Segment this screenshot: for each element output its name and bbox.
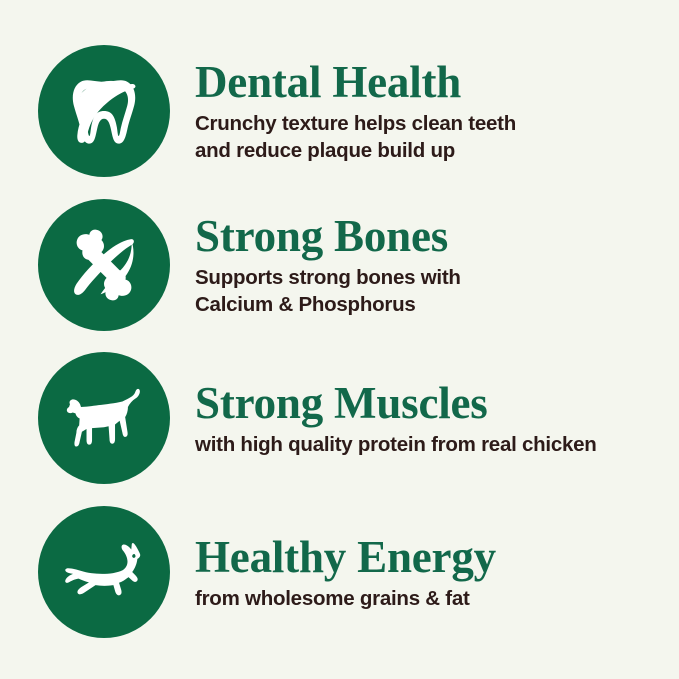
bone-leaf-icon — [61, 222, 147, 308]
tooth-leaf-icon — [61, 68, 147, 154]
benefit-icon-badge — [38, 199, 170, 331]
benefit-icon-badge — [38, 352, 170, 484]
benefits-panel: Dental Health Crunchy texture helps clea… — [0, 0, 679, 679]
benefit-text-block: Strong Bones Supports strong bones with … — [195, 212, 461, 318]
standing-dog-icon — [58, 372, 150, 464]
benefit-item-strong-muscles: Strong Muscles with high quality protein… — [38, 342, 661, 496]
benefit-item-healthy-energy: Healthy Energy from wholesome grains & f… — [38, 495, 661, 649]
benefit-description: with high quality protein from real chic… — [195, 431, 597, 458]
benefit-icon-badge — [38, 506, 170, 638]
leaping-dog-icon — [57, 525, 151, 619]
benefit-title: Healthy Energy — [195, 535, 496, 581]
benefit-text-block: Strong Muscles with high quality protein… — [195, 379, 597, 458]
benefit-text-block: Healthy Energy from wholesome grains & f… — [195, 533, 496, 612]
benefit-title: Strong Bones — [195, 214, 461, 260]
benefit-item-dental-health: Dental Health Crunchy texture helps clea… — [38, 34, 661, 188]
benefit-icon-badge — [38, 45, 170, 177]
benefit-description: from wholesome grains & fat — [195, 585, 496, 612]
benefit-item-strong-bones: Strong Bones Supports strong bones with … — [38, 188, 661, 342]
benefit-title: Dental Health — [195, 60, 516, 106]
benefit-text-block: Dental Health Crunchy texture helps clea… — [195, 58, 516, 164]
benefit-description: Supports strong bones with Calcium & Pho… — [195, 264, 461, 318]
benefit-description: Crunchy texture helps clean teeth and re… — [195, 110, 516, 164]
benefit-title: Strong Muscles — [195, 381, 597, 427]
